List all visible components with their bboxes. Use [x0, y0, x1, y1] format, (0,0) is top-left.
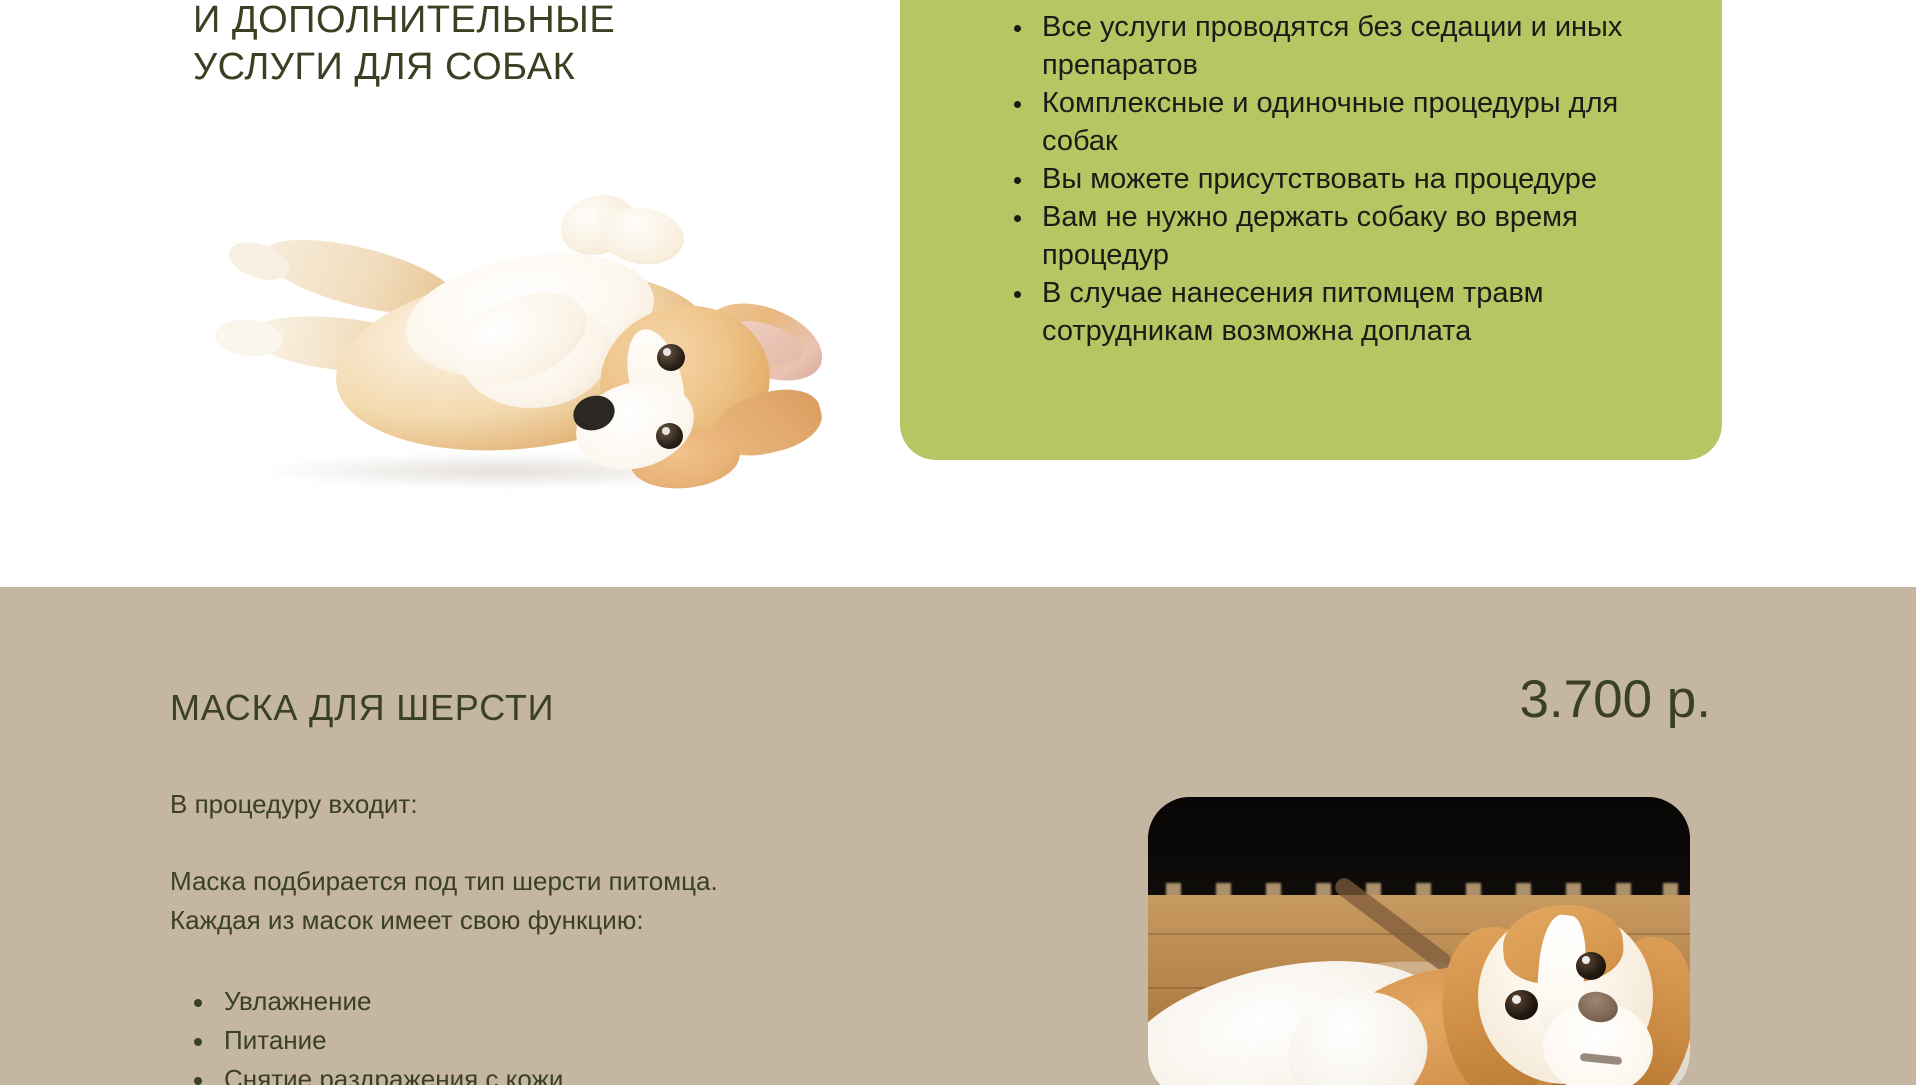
top-section: ОСНОВНЫЕ ПРОЦЕДУРЫ И ДОПОЛНИТЕЛЬНЫЕ УСЛУ… [0, 0, 1916, 587]
spaniel-eye-right [1576, 952, 1606, 980]
spaniel-eye-right-glint [1582, 956, 1590, 964]
spaniel-eye-left-glint [1512, 995, 1521, 1004]
page-root: ОСНОВНЫЕ ПРОЦЕДУРЫ И ДОПОЛНИТЕЛЬНЫЕ УСЛУ… [0, 0, 1916, 1085]
list-item: Вам не нужно держать собаку во время про… [1005, 198, 1685, 274]
spaniel-eye-left [1505, 990, 1538, 1020]
benefits-card: Все услуги проводятся без седации и иных… [900, 0, 1722, 460]
photo-dark-background [1148, 797, 1690, 897]
list-item: Снятие раздражения с кожи [186, 1060, 886, 1085]
corgi-eye-upper [657, 344, 685, 371]
benefits-list: Все услуги проводятся без седации и иных… [1005, 8, 1685, 350]
list-item: Все услуги проводятся без седации и иных… [1005, 8, 1685, 84]
service-description: Маска подбирается под тип шерсти питомца… [170, 862, 930, 940]
page-title: ОСНОВНЫЕ ПРОЦЕДУРЫ И ДОПОЛНИТЕЛЬНЫЕ УСЛУ… [193, 0, 893, 91]
corgi-puppy-photo [160, 178, 860, 543]
list-item: В случае нанесения питомцем травм сотруд… [1005, 274, 1685, 350]
service-section: МАСКА ДЛЯ ШЕРСТИ 3.700 р. В процедуру вх… [0, 587, 1916, 1085]
list-item: Увлажнение [186, 982, 886, 1021]
corgi-eye-lower-glint [662, 427, 670, 435]
corgi-illustration [160, 178, 860, 543]
service-title: МАСКА ДЛЯ ШЕРСТИ [170, 687, 554, 729]
list-item: Вы можете присутствовать на процедуре [1005, 160, 1685, 198]
service-price: 3.700 р. [1519, 669, 1711, 730]
corgi-eye-lower [656, 423, 683, 449]
service-intro-label: В процедуру входит: [170, 785, 418, 824]
list-item: Комплексные и одиночные процедуры для со… [1005, 84, 1685, 160]
corgi-eye-upper-glint [663, 348, 671, 356]
service-benefits-list: Увлажнение Питание Снятие раздражения с … [186, 982, 886, 1085]
spaniel-photo [1148, 797, 1690, 1085]
list-item: Питание [186, 1021, 886, 1060]
